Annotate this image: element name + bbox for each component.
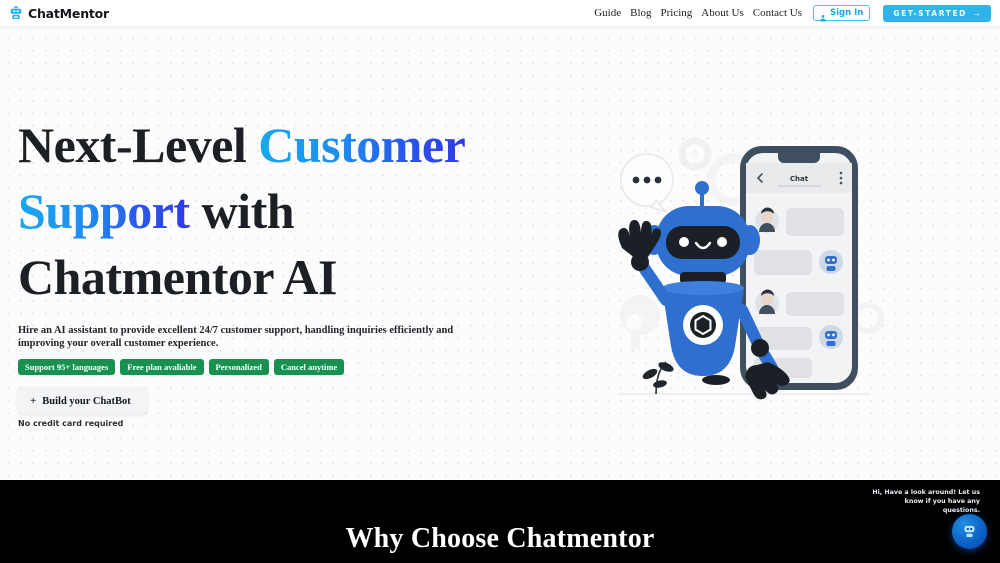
svg-text:Chat: Chat [790,175,809,183]
logo-text: ChatMentor [28,6,109,21]
sign-in-label: Sign In [830,8,863,18]
why-choose-section: Why Choose Chatmentor Hi, Have a look ar… [0,480,1000,563]
headline-accent-2: Support [18,183,190,239]
chat-bot-icon [961,523,978,540]
no-credit-card-note: No credit card required [18,419,538,428]
get-started-button[interactable]: GET-STARTED → [883,5,991,22]
plus-icon: + [30,395,36,407]
headline-line-3: Chatmentor AI [18,244,538,310]
chat-widget-button[interactable] [952,514,987,549]
dots-vertical-icon [840,172,843,185]
arrow-right-icon: → [972,9,981,18]
hero-copy: Next-Level Customer Support with Chatmen… [18,112,538,428]
chat-widget-message: Hi, Have a look around! Let us know if y… [870,488,980,515]
nav-link-about-us[interactable]: About Us [701,7,743,19]
headline-plain-2: with [190,183,294,239]
nav-link-pricing[interactable]: Pricing [661,7,693,19]
badge-personalized: Personalized [209,359,269,375]
badge-languages: Support 95+ languages [18,359,115,375]
typing-indicator [621,154,673,212]
nav-link-guide[interactable]: Guide [594,7,621,19]
badge-cancel: Cancel anytime [274,359,344,375]
nav-link-contact-us[interactable]: Contact Us [753,7,802,19]
headline-plain-1: Next-Level [18,117,258,173]
person-icon [819,9,827,17]
logo[interactable]: ChatMentor [9,6,109,21]
build-chatbot-button[interactable]: + Build your ChatBot [18,388,147,414]
hero-illustration: ? [600,122,900,422]
badge-free-plan: Free plan avaliable [120,359,203,375]
page-title: Next-Level Customer Support with Chatmen… [18,112,538,310]
nav-link-blog[interactable]: Blog [630,7,651,19]
headline-accent-1: Customer [258,117,465,173]
section-heading: Why Choose Chatmentor [0,523,1000,555]
get-started-label: GET-STARTED [893,9,967,18]
robot-icon [9,6,23,20]
headline-line-1: Next-Level Customer [18,112,538,178]
hero-subtitle: Hire an AI assistant to provide excellen… [18,324,480,350]
main-nav: Guide Blog Pricing About Us Contact Us S… [594,5,991,22]
hero-section: Next-Level Customer Support with Chatmen… [0,27,1000,480]
build-chatbot-label: Build your ChatBot [42,396,131,407]
sign-in-button[interactable]: Sign In [813,5,870,21]
feature-badge-list: Support 95+ languages Free plan avaliabl… [18,359,538,375]
headline-line-2: Support with [18,178,538,244]
site-header: ChatMentor Guide Blog Pricing About Us C… [0,0,1000,27]
